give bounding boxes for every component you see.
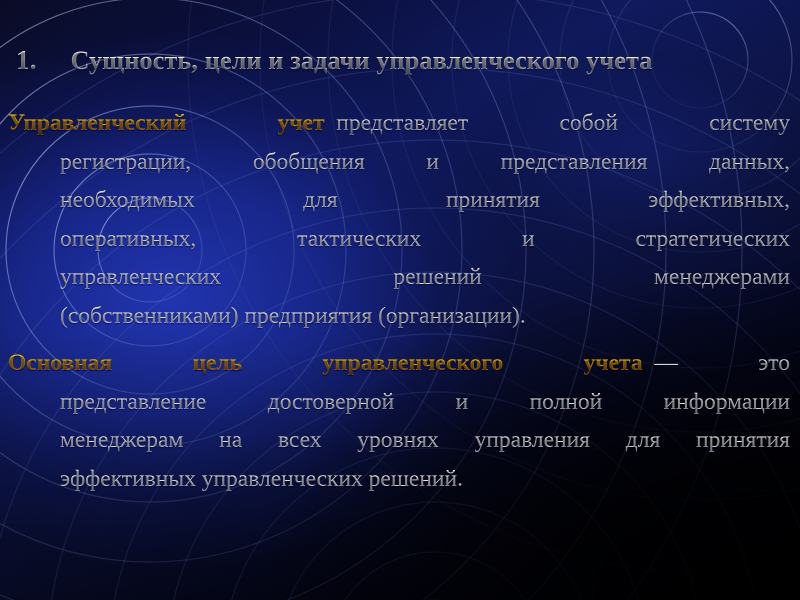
paragraph-line: оперативных, тактических и стратегически… xyxy=(8,220,790,259)
highlight-term: Управленческий учет xyxy=(8,110,325,136)
slide-title-number: 1. xyxy=(16,46,37,76)
slide-content: 1. Сущность, цели и задачи управленческо… xyxy=(0,0,800,600)
slide-canvas: 1. Сущность, цели и задачи управленческо… xyxy=(0,0,800,600)
paragraph-line: необходимых для принятия эффективных, xyxy=(8,181,790,220)
paragraph-line-text: представляет собой систему xyxy=(336,110,790,136)
paragraph-line: управленческих решений менеджерами xyxy=(8,258,790,297)
paragraph-line: (собственниками) предприятия (организаци… xyxy=(8,297,790,336)
slide-title-row: 1. Сущность, цели и задачи управленческо… xyxy=(16,46,784,76)
page-title: Сущность, цели и задачи управленческого … xyxy=(71,47,653,76)
paragraph-line: менеджерам на всех уровнях управления дл… xyxy=(8,421,790,460)
paragraph-line: Основная цель управленческого учета — эт… xyxy=(8,344,790,383)
paragraph-line: Управленческий учет представляет собой с… xyxy=(8,104,790,143)
paragraph-line: представление достоверной и полной инфор… xyxy=(8,383,790,422)
paragraph-main-goal: Основная цель управленческого учета — эт… xyxy=(8,344,790,498)
paragraph-line: эффективных управленческих решений. xyxy=(8,460,790,499)
paragraph-definition: Управленческий учет представляет собой с… xyxy=(8,104,790,335)
paragraph-line: регистрации, обобщения и представления д… xyxy=(8,143,790,182)
paragraph-line-text: — это xyxy=(654,350,790,376)
highlight-term: Основная цель управленческого учета xyxy=(8,350,643,376)
